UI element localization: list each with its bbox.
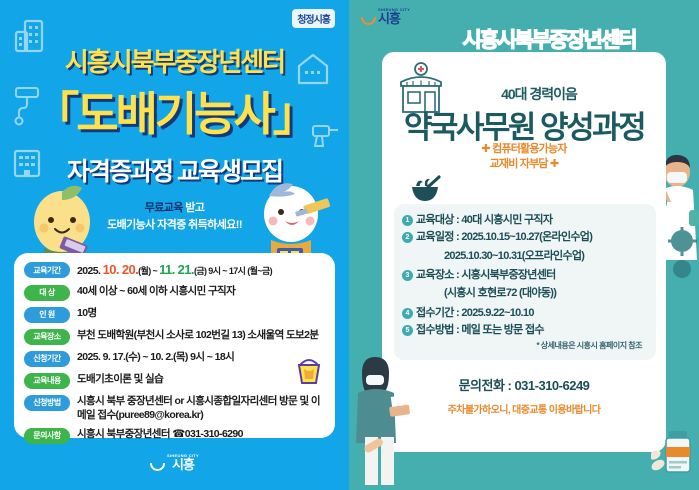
value-suffix: (금) 9시 ~ 17시 (월~금) xyxy=(194,266,272,276)
item-number: 1 xyxy=(402,215,413,226)
left-info-card: 교육기간 2025. 10. 20.(월) ~ 11. 21.(금) 9시 ~ … xyxy=(14,253,335,438)
value-date-end: 11. 21. xyxy=(159,262,194,277)
value-date-start: 10. 20. xyxy=(103,262,139,277)
accent-text2: 교재비 자부담 xyxy=(490,158,548,170)
smile-icon xyxy=(150,463,165,471)
left-sub-rest: 받고 xyxy=(183,202,205,214)
nurse-illustration xyxy=(349,355,411,490)
accent-text1: 컴퓨터활용가능자 xyxy=(492,143,567,155)
row-value: 도배기초이론 및 실습 xyxy=(77,372,163,386)
row-value: 시흥시 북부중장년센터 ☎031-310-6290 xyxy=(77,427,243,441)
contact-phone: 문의전화 : 031-310-6249 xyxy=(382,375,666,394)
list-item: 1 교육대상 : 40대 시흥시민 구직자 xyxy=(402,213,648,227)
value-middle: (월) ~ xyxy=(138,266,159,276)
item-label: 교육장소 : 시흥시북부중장년센터 xyxy=(416,268,556,282)
item-number: 3 xyxy=(402,270,413,281)
right-info-card: 40대 경력이음 약국사무원 양성과정 ✚ 컴퓨터활용가능자 교재비 자부담 ✚… xyxy=(382,52,666,452)
info-row: 교육내용 도배기초이론 및 실습 xyxy=(24,372,325,389)
row-badge: 교육기간 xyxy=(24,262,70,278)
left-poster: 청정시흥 시흥시북부중장년센터 「도배기능사」 자격증과정 교육생모집 무료교육… xyxy=(0,0,349,490)
info-row: 교육기간 2025. 10. 20.(월) ~ 11. 21.(금) 9시 ~ … xyxy=(24,261,325,279)
parking-notice: 주차불가하오니, 대중교통 이용바랍니다 xyxy=(382,401,666,416)
list-item: 3 교육장소 : 시흥시북부중장년센터 xyxy=(402,268,648,282)
logo-text: SIHEUNG CITY시흥 xyxy=(167,454,199,471)
row-badge: 인 원 xyxy=(24,307,70,323)
left-title-line1: 시흥시북부중장년센터 xyxy=(0,42,349,79)
right-items-list: 1 교육대상 : 40대 시흥시민 구직자 2 교육일정 : 2025.10.1… xyxy=(394,204,656,360)
clean-siheung-logo: 청정시흥 xyxy=(292,9,335,28)
paint-bucket-icon xyxy=(295,355,323,390)
list-item: 5 접수방법 : 메일 또는 방문 접수 xyxy=(402,323,648,337)
item-number: 2 xyxy=(402,232,413,243)
row-badge: 신청기간 xyxy=(24,351,70,367)
row-value: 10명 xyxy=(77,306,97,320)
right-accent-line2: 교재비 자부담 ✚ xyxy=(382,155,666,171)
item-continuation: 2025.10.30~10.31(오프라인수업) xyxy=(444,248,648,265)
info-row: 문의사항 시흥시 북부중장년센터 ☎031-310-6290 xyxy=(24,427,325,444)
detail-note: * 상세내용은 시흥시 홈페이지 참조 xyxy=(402,340,648,351)
item-label: 접수기간 : 2025.9.22~10.10 xyxy=(416,306,534,320)
list-item: 2 교육일정 : 2025.10.15~10.27(온라인수업) xyxy=(402,230,648,244)
row-value: 2025. 10. 20.(월) ~ 11. 21.(금) 9시 ~ 17시 (… xyxy=(77,261,272,279)
info-row: 교육장소 부천 도배학원(부천시 소사로 102번길 13) 소새울역 도보2분 xyxy=(24,328,325,345)
item-label: 접수방법 : 메일 또는 방문 접수 xyxy=(416,323,544,337)
left-title-line2: 「도배기능사」 xyxy=(0,78,349,144)
right-accent-line1: ✚ 컴퓨터활용가능자 xyxy=(382,140,666,156)
row-value: 2025. 9. 17.(수) ~ 10. 2.(목) 9시 ~ 18시 xyxy=(77,350,234,364)
info-row: 신청기간 2025. 9. 17.(수) ~ 10. 2.(목) 9시 ~ 18… xyxy=(24,350,325,367)
item-continuation: (시흥시 호현로72 (대야동)) xyxy=(444,285,648,302)
value-prefix: 2025. xyxy=(77,265,103,277)
right-title-small: 40대 경력이음 xyxy=(382,84,666,104)
item-number: 5 xyxy=(402,325,413,336)
siheung-city-logo: SIHEUNG CITY시흥 xyxy=(150,454,199,471)
item-label: 교육대상 : 40대 시흥시민 구직자 xyxy=(416,213,552,227)
medicine-bottle-icon xyxy=(651,427,695,480)
right-header-title: 시흥시북부중장년센터 xyxy=(349,24,699,54)
left-sub-highlight: 무료교육 xyxy=(145,202,183,214)
row-badge: 대 상 xyxy=(24,285,70,301)
row-badge: 신청방법 xyxy=(24,395,70,411)
list-item: 4 접수기간 : 2025.9.22~10.10 xyxy=(402,306,648,320)
row-badge: 교육장소 xyxy=(24,329,70,345)
virus-illustration xyxy=(667,225,697,288)
row-value: 40세 이상 ~ 60세 이하 시흥시민 구직자 xyxy=(77,284,235,298)
plus-icon: ✚ xyxy=(550,157,558,170)
plus-icon: ✚ xyxy=(481,142,489,155)
info-row: 신청방법 시흥시 북부 중장년센터 or 시흥시종합일자리센터 방문 및 이메일… xyxy=(24,394,325,422)
item-number: 4 xyxy=(402,308,413,319)
row-value: 부천 도배학원(부천시 소사로 102번길 13) 소새울역 도보2분 xyxy=(77,328,318,342)
siheung-city-logo: SIHEUNG CITY시흥 xyxy=(361,8,410,25)
left-footer-logo: SIHEUNG CITY시흥 xyxy=(0,454,349,476)
row-value: 시흥시 북부 중장년센터 or 시흥시종합일자리센터 방문 및 이메일 접수(p… xyxy=(77,394,325,422)
two-poster-layout: 청정시흥 시흥시북부중장년센터 「도배기능사」 자격증과정 교육생모집 무료교육… xyxy=(0,0,699,490)
row-badge: 교육내용 xyxy=(24,373,70,389)
row-badge: 문의사항 xyxy=(24,428,70,444)
logo-korean: 시흥 xyxy=(172,457,194,472)
info-row: 대 상 40세 이상 ~ 60세 이하 시흥시민 구직자 xyxy=(24,284,325,301)
logo-text: SIHEUNG CITY시흥 xyxy=(378,8,410,25)
item-label: 교육일정 : 2025.10.15~10.27(온라인수업) xyxy=(416,230,592,244)
info-row: 인 원 10명 xyxy=(24,306,325,323)
right-poster: SIHEUNG CITY시흥 시흥시북부중장년센터 xyxy=(349,0,699,490)
